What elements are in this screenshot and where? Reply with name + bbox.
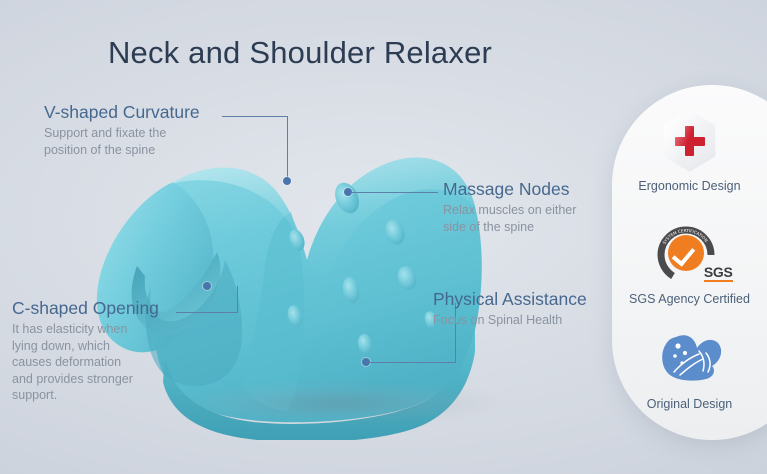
leader-line-massage bbox=[352, 192, 438, 193]
certification-card: Ergonomic Design SYSTEM CERTIFICATION SG bbox=[612, 85, 767, 440]
certification-sgs: SYSTEM CERTIFICATION SGS SGS Agency Cert… bbox=[612, 223, 767, 306]
marker-dot-massage-nodes bbox=[344, 188, 352, 196]
marker-dot-c-shaped-opening bbox=[203, 282, 211, 290]
callout-heading: V-shaped Curvature bbox=[44, 101, 204, 123]
pillow-silhouette-icon bbox=[654, 331, 726, 387]
leader-line-v-vertical bbox=[287, 116, 288, 180]
marker-dot-v-shaped-curvature bbox=[283, 177, 291, 185]
page-title: Neck and Shoulder Relaxer bbox=[0, 35, 600, 71]
certification-ergonomic-design: Ergonomic Design bbox=[612, 110, 767, 193]
callout-heading: Massage Nodes bbox=[443, 178, 593, 200]
callout-subtext: It has elasticity when lying down, which… bbox=[12, 321, 137, 404]
leader-line-c-vertical bbox=[237, 286, 238, 313]
badge-graphic: SYSTEM CERTIFICATION SGS bbox=[612, 223, 767, 285]
badge-graphic bbox=[612, 110, 767, 172]
product-shadow bbox=[175, 382, 505, 424]
leader-line-physical-horizontal bbox=[370, 362, 456, 363]
callout-subtext: Focus on Spinal Health bbox=[433, 312, 587, 329]
sgs-certification-icon: SYSTEM CERTIFICATION SGS bbox=[647, 225, 733, 283]
certification-caption: Ergonomic Design bbox=[612, 179, 767, 193]
badge-graphic bbox=[612, 328, 767, 390]
certification-caption: Original Design bbox=[612, 397, 767, 411]
medical-cross-hexagon-icon bbox=[660, 110, 720, 172]
leader-line-v-horizontal bbox=[222, 116, 288, 117]
callout-subtext: Relax muscles on either side of the spin… bbox=[443, 202, 593, 235]
callout-physical-assistance: Physical Assistance Focus on Spinal Heal… bbox=[433, 288, 587, 329]
leader-line-c-horizontal bbox=[176, 312, 238, 313]
callout-c-shaped-opening: C-shaped Opening It has elasticity when … bbox=[12, 297, 159, 404]
certification-original-design: Original Design bbox=[612, 328, 767, 411]
callout-massage-nodes: Massage Nodes Relax muscles on either si… bbox=[443, 178, 593, 235]
marker-dot-physical-assistance bbox=[362, 358, 370, 366]
sgs-wordmark: SGS bbox=[704, 264, 733, 280]
certification-caption: SGS Agency Certified bbox=[612, 292, 767, 306]
callout-v-shaped-curvature: V-shaped Curvature Support and fixate th… bbox=[44, 101, 204, 158]
callout-heading: C-shaped Opening bbox=[12, 297, 159, 319]
infographic-canvas: Neck and Shoulder Relaxer bbox=[0, 0, 767, 474]
callout-subtext: Support and fixate the position of the s… bbox=[44, 125, 204, 158]
callout-heading: Physical Assistance bbox=[433, 288, 587, 310]
